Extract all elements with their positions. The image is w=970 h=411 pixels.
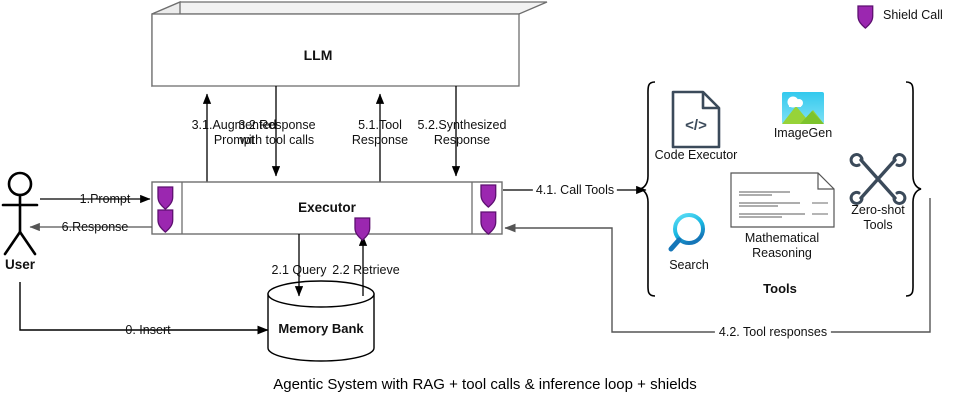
tool-label-math-reasoning-line1: Mathematical xyxy=(727,231,837,245)
diagram-canvas: </> xyxy=(0,0,970,411)
tool-label-math-reasoning-line2: Reasoning xyxy=(727,246,837,260)
edge-label-prompt: 1.Prompt xyxy=(80,192,131,206)
tool-label-imagegen: ImageGen xyxy=(758,126,848,140)
tool-label-zero-shot-tools-line1: Zero-shot xyxy=(833,203,923,217)
user-node[interactable] xyxy=(3,173,37,254)
edge-label-response-tool-calls-line2: with tool calls xyxy=(222,133,332,147)
shield-icon xyxy=(858,6,873,28)
llm-label: LLM xyxy=(304,48,333,62)
formula-document-icon[interactable] xyxy=(731,173,834,227)
tools-group-label: Tools xyxy=(763,282,797,296)
llm-node[interactable] xyxy=(152,2,547,86)
diagram-caption: Agentic System with RAG + tool calls & i… xyxy=(273,376,697,393)
memory-bank-label: Memory Bank xyxy=(278,322,363,336)
edge-label-retrieve: 2.2 Retrieve xyxy=(332,263,399,277)
shield-icon-executor-retrieve xyxy=(355,218,370,240)
edge-label-synthesized-response-line2: Response xyxy=(406,133,518,147)
edge-label-call-tools: 4.1. Call Tools xyxy=(533,183,617,197)
tool-label-zero-shot-tools-line2: Tools xyxy=(833,218,923,232)
edge-label-query: 2.1 Query xyxy=(272,263,327,277)
tool-label-search: Search xyxy=(649,258,729,272)
image-picture-icon[interactable] xyxy=(782,92,824,124)
edge-label-response: 6.Response xyxy=(62,220,129,234)
edge-label-insert: 0. Insert xyxy=(125,323,170,337)
executor-label: Executor xyxy=(298,201,356,215)
user-label: User xyxy=(5,258,35,272)
svg-text:</>: </> xyxy=(685,117,707,134)
edge-label-tool-responses: 4.2. Tool responses xyxy=(715,325,831,339)
tool-label-code-executor: Code Executor xyxy=(651,148,741,162)
edge-label-synthesized-response-line1: 5.2.Synthesized xyxy=(406,118,518,132)
crossed-wrenches-icon[interactable] xyxy=(851,155,905,204)
legend-label: Shield Call xyxy=(883,8,943,22)
edge-label-response-tool-calls-line1: 3.2.Response xyxy=(222,118,332,132)
magnifier-icon[interactable] xyxy=(671,215,703,249)
tools-group-brace-right xyxy=(906,82,921,296)
code-document-icon[interactable]: </> xyxy=(673,92,719,147)
